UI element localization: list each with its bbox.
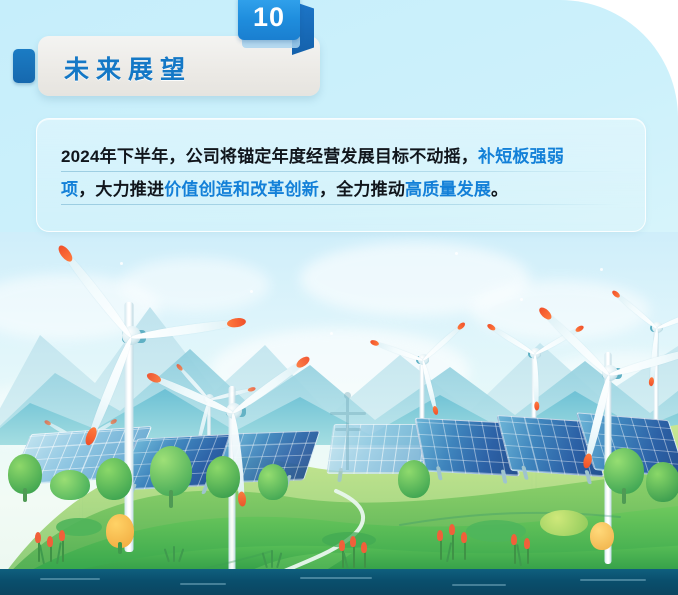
badge-number: 10 [238, 0, 300, 40]
page-title: 未来展望 [64, 50, 192, 86]
tree-trunk [169, 490, 173, 508]
line2-plain-c: 。 [491, 180, 508, 199]
line2-plain-b: ，全力推动 [319, 180, 405, 199]
tree-shape [150, 446, 192, 496]
banner-left-tab [13, 49, 35, 83]
energy-landscape-illustration [0, 232, 678, 595]
line2-plain-a: ，大力推进 [78, 180, 164, 199]
outlook-text-card: 2024年下半年，公司将锚定年度经营发展目标不动摇，补短板强弱 项，大力推进价值… [36, 118, 646, 232]
tree-shape [646, 462, 678, 502]
line2-highlight-c: 高质量发展 [405, 180, 491, 199]
autumn-tree-shape [590, 522, 614, 550]
slide-root: 未来展望 10 2024年下半年，公司将锚定年度经营发展目标不动摇，补短板强弱 … [0, 0, 678, 595]
bush-shape [540, 510, 588, 536]
tree-shape [398, 460, 430, 498]
transmission-tower [326, 398, 370, 470]
outlook-text-line-2: 项，大力推进价值创造和改革创新，全力推动高质量发展。 [61, 174, 623, 207]
tree-trunk [23, 488, 27, 502]
line1-highlight-a: 补短板强弱 [478, 147, 564, 166]
line1-plain-a: 2024年下半年，公司将锚定年度经营发展目标不动摇， [61, 147, 478, 166]
bush-shape [466, 520, 526, 542]
line2-highlight-b: 价值创造和改革创新 [164, 180, 319, 199]
section-number-badge: 10 [238, 0, 300, 48]
water-band [0, 569, 678, 595]
tree-trunk [118, 542, 122, 554]
tree-shape [50, 470, 90, 500]
line2-highlight-a: 项 [61, 180, 78, 199]
outlook-text-line-1: 2024年下半年，公司将锚定年度经营发展目标不动摇，补短板强弱 [61, 141, 623, 174]
tree-shape [96, 458, 132, 500]
tree-shape [206, 456, 240, 498]
tree-trunk [622, 488, 626, 504]
bush-shape [322, 532, 376, 548]
outlook-text-body: 2024年下半年，公司将锚定年度经营发展目标不动摇，补短板强弱 项，大力推进价值… [61, 141, 623, 207]
tree-shape [258, 464, 288, 500]
